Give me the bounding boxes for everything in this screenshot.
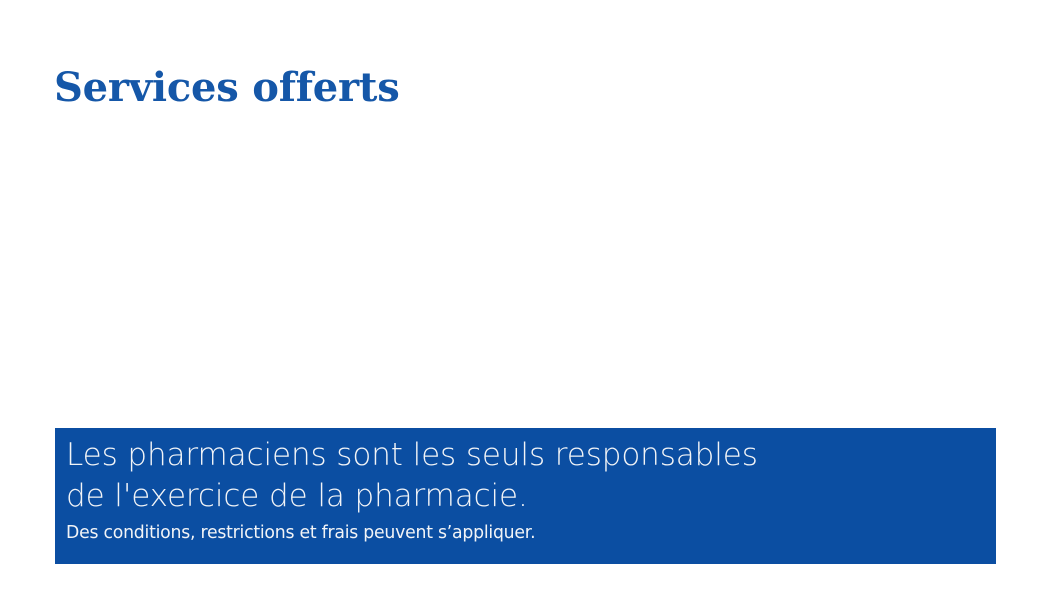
callout-banner: Les pharmaciens sont les seuls responsab…: [55, 428, 996, 564]
slide-content-area: [54, 130, 996, 420]
banner-headline-line-2: de l'exercice de la pharmacie.: [66, 476, 996, 517]
banner-subline: Des conditions, restrictions et frais pe…: [66, 521, 959, 545]
banner-headline: Les pharmaciens sont les seuls responsab…: [66, 435, 996, 517]
slide-root: Services offerts Les pharmaciens sont le…: [0, 0, 1050, 600]
banner-headline-line-1: Les pharmaciens sont les seuls responsab…: [66, 435, 996, 476]
page-title: Services offerts: [54, 62, 400, 114]
